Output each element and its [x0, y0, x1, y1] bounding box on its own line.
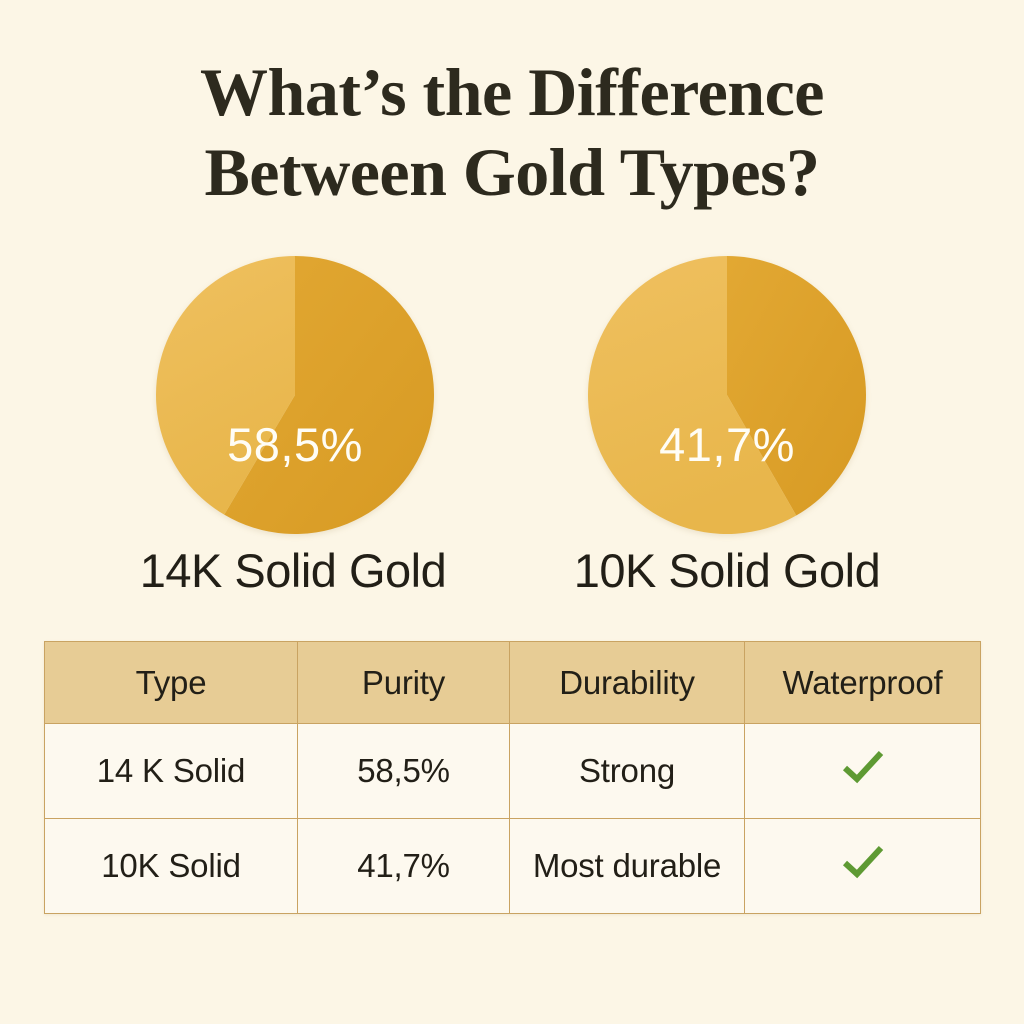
cell-type: 14 K Solid: [45, 724, 298, 819]
table-row: 10K Solid 41,7% Most durable: [45, 819, 981, 914]
check-icon: [842, 750, 884, 784]
comparison-table: Type Purity Durability Waterproof 14 K S…: [44, 641, 981, 914]
title-line-1: What’s the Difference: [0, 52, 1024, 132]
page-title: What’s the Difference Between Gold Types…: [0, 52, 1024, 212]
pie-chart-10k: 41,7%: [587, 255, 867, 535]
pie-caption-group: 14K Solid Gold 10K Solid Gold: [0, 543, 1024, 605]
column-header-purity: Purity: [298, 642, 510, 724]
pie-chart-10k-svg: [587, 255, 867, 535]
cell-durability: Strong: [510, 724, 745, 819]
cell-purity: 58,5%: [298, 724, 510, 819]
table-row: 14 K Solid 58,5% Strong: [45, 724, 981, 819]
column-header-waterproof: Waterproof: [745, 642, 981, 724]
cell-type: 10K Solid: [45, 819, 298, 914]
title-line-2: Between Gold Types?: [0, 132, 1024, 212]
pie-chart-group: 58,5% 41,7%: [0, 255, 1024, 545]
check-icon: [842, 845, 884, 879]
pie-caption-14k: 14K Solid Gold: [58, 543, 528, 598]
pie-chart-14k: 58,5%: [155, 255, 435, 535]
column-header-type: Type: [45, 642, 298, 724]
cell-purity: 41,7%: [298, 819, 510, 914]
cell-waterproof: [745, 724, 981, 819]
table-header: Type Purity Durability Waterproof: [45, 642, 981, 724]
cell-durability: Most durable: [510, 819, 745, 914]
pie-caption-10k: 10K Solid Gold: [492, 543, 962, 598]
table-header-row: Type Purity Durability Waterproof: [45, 642, 981, 724]
column-header-durability: Durability: [510, 642, 745, 724]
pie-chart-14k-svg: [155, 255, 435, 535]
table-body: 14 K Solid 58,5% Strong 10K Solid 41,7% …: [45, 724, 981, 914]
cell-waterproof: [745, 819, 981, 914]
